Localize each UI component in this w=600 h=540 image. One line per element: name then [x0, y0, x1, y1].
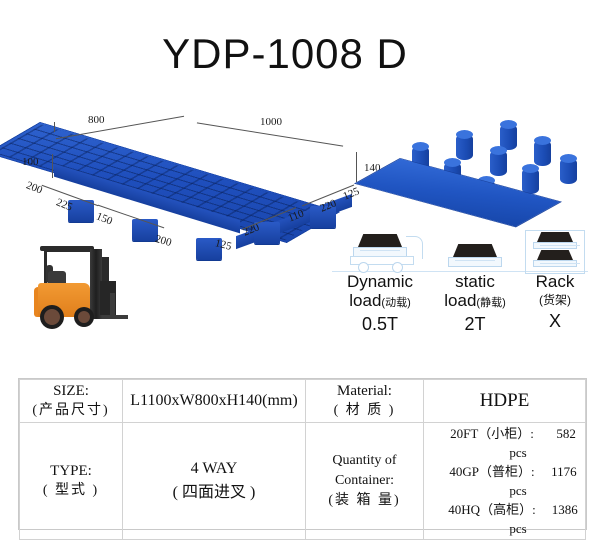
load-value: X: [522, 310, 588, 332]
cell-size-label: SIZE: (产品尺寸): [20, 380, 123, 423]
qty-container: 20FT（小柜）:: [450, 426, 534, 441]
dim-height-100: 100: [22, 156, 39, 168]
qty-label-en2: Container:: [307, 471, 422, 491]
cell-quantity-label: Quantity of Container: (装 箱 量): [306, 423, 424, 540]
cell-size-value: L1100xW800xH140(mm): [123, 380, 306, 423]
rack-icon: [522, 230, 588, 272]
pallet-stack-icon: [428, 230, 522, 272]
qty-unit: pcs: [509, 521, 526, 536]
qty-container: 40GP（普柜）:: [449, 464, 534, 479]
pallet-bottom-view: [400, 118, 580, 228]
load-label-line2: (货架): [522, 291, 588, 310]
pallet-foot: [132, 219, 158, 241]
dim-length-1000: 1000: [260, 116, 282, 128]
load-rating-dynamic: Dynamic load(动载) 0.5T: [332, 230, 428, 335]
load-label-line1: Rack: [522, 272, 588, 291]
type-label-cn: ( 型式 ): [21, 481, 121, 501]
qty-container: 40HQ（高柜）:: [448, 502, 535, 517]
pallet-bottom-foot: [456, 134, 473, 160]
pallet-bottom-foot: [560, 158, 577, 184]
material-label-en: Material:: [307, 381, 422, 401]
material-label-cn: ( 材 质 ): [307, 401, 422, 421]
type-value-en: 4 WAY: [124, 460, 304, 478]
load-ratings: Dynamic load(动载) 0.5T static load(静载) 2T: [332, 230, 588, 350]
pallet-bottom-foot: [534, 140, 551, 166]
size-label-cn: (产品尺寸): [21, 401, 121, 421]
cell-material-value: HDPE: [424, 380, 586, 423]
size-label-en: SIZE:: [21, 381, 121, 401]
product-spec-sheet: YDP-1008 D 800 1000 100 140 200 225 150: [0, 0, 600, 539]
cell-type-value: 4 WAY ( 四面进叉 ): [123, 423, 306, 540]
qty-label-en1: Quantity of: [307, 451, 422, 471]
qty-row: 20FT（小柜）:582pcs: [442, 424, 584, 462]
qty-count: 1176: [535, 462, 577, 481]
load-rating-static: static load(静载) 2T: [428, 230, 522, 335]
page-title: YDP-1008 D: [0, 30, 600, 78]
cell-type-label: TYPE: ( 型式 ): [20, 423, 123, 540]
load-value: 2T: [428, 313, 522, 335]
load-rating-rack: Rack (货架) X: [522, 230, 588, 332]
load-label-line1: static: [428, 272, 522, 291]
forklift-image: [24, 235, 128, 339]
qty-count: 1386: [536, 500, 578, 519]
specification-table: SIZE: (产品尺寸) L1100xW800xH140(mm) Materia…: [18, 378, 587, 530]
pallet-bottom-foot: [522, 168, 539, 194]
qty-row: 40GP（普柜）:1176pcs: [442, 462, 584, 500]
load-label-line2: load(动载): [332, 291, 428, 313]
hand-truck-icon: [332, 230, 428, 272]
qty-unit: pcs: [509, 445, 526, 460]
cell-material-label: Material: ( 材 质 ): [306, 380, 424, 423]
qty-label-cn: (装 箱 量): [307, 491, 422, 511]
qty-row: 40HQ（高柜）:1386pcs: [442, 500, 584, 538]
load-label-line2: load(静载): [428, 291, 522, 313]
pallet-bottom-foot: [490, 150, 507, 176]
qty-count: 582: [534, 424, 576, 443]
qty-unit: pcs: [509, 483, 526, 498]
dim-width-800: 800: [88, 114, 105, 126]
load-label-line1: Dynamic: [332, 272, 428, 291]
table-row-type: TYPE: ( 型式 ) 4 WAY ( 四面进叉 ) Quantity of …: [20, 423, 586, 540]
type-value-cn: ( 四面进叉 ): [124, 478, 304, 502]
load-value: 0.5T: [332, 313, 428, 335]
cell-quantity-values: 20FT（小柜）:582pcs 40GP（普柜）:1176pcs 40HQ（高柜…: [424, 423, 586, 540]
type-label-en: TYPE:: [21, 461, 121, 481]
illustration-area: 800 1000 100 140 200 225 150 200 125 220…: [0, 100, 600, 350]
table-row-size: SIZE: (产品尺寸) L1100xW800xH140(mm) Materia…: [20, 380, 586, 423]
